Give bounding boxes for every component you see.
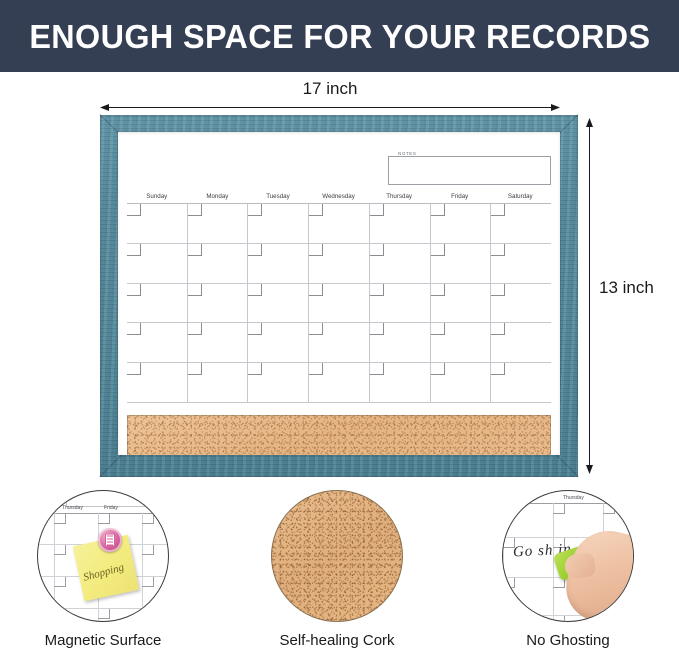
calendar-date-box bbox=[188, 204, 202, 216]
calendar-week-row bbox=[127, 323, 551, 363]
calendar-day-cell[interactable] bbox=[127, 323, 188, 362]
calendar-day-cell[interactable] bbox=[309, 363, 370, 402]
board-surface: NOTES Sunday Monday Tuesday Wednesday Th… bbox=[118, 132, 560, 455]
calendar-day-cell[interactable] bbox=[491, 323, 551, 362]
calendar-date-box bbox=[127, 363, 141, 375]
calendar-day-cell[interactable] bbox=[431, 284, 492, 323]
mini-grid-line bbox=[142, 513, 143, 621]
calendar-date-box bbox=[370, 284, 384, 296]
calendar-day-cell[interactable] bbox=[309, 323, 370, 362]
calendar-day-cell[interactable] bbox=[248, 204, 309, 243]
calendar-date-box bbox=[127, 204, 141, 216]
mini-day-header-saturday: Satu bbox=[148, 505, 158, 511]
mini-day-header-thursday: Thursday bbox=[62, 505, 83, 511]
day-header-saturday: Saturday bbox=[490, 190, 551, 203]
thumb-shape bbox=[563, 552, 596, 580]
calendar-week-row bbox=[127, 204, 551, 244]
page-title: ENOUGH SPACE FOR YOUR RECORDS bbox=[29, 20, 650, 53]
calendar-date-box bbox=[188, 244, 202, 256]
calendar-day-header-row: Sunday Monday Tuesday Wednesday Thursday… bbox=[127, 190, 551, 204]
feature-callout-self-healing-cork: Self-healing Cork bbox=[261, 490, 413, 649]
calendar-day-cell[interactable] bbox=[370, 284, 431, 323]
height-dimension-label: 13 inch bbox=[599, 278, 654, 298]
calendar-day-cell[interactable] bbox=[248, 284, 309, 323]
calendar-date-box bbox=[309, 204, 323, 216]
day-header-thursday: Thursday bbox=[369, 190, 430, 203]
calendar-day-cell[interactable] bbox=[127, 204, 188, 243]
feature-callout-no-ghosting: Thursday Go sh in No Ghosting bbox=[492, 490, 644, 649]
calendar-day-cell[interactable] bbox=[431, 204, 492, 243]
calendar-date-box bbox=[188, 323, 202, 335]
mini-grid-line bbox=[54, 513, 55, 621]
mini-date-box bbox=[98, 609, 110, 619]
mini-day-header-friday: Friday bbox=[104, 505, 118, 511]
magnet-glyph bbox=[105, 534, 115, 547]
day-header-monday: Monday bbox=[188, 190, 249, 203]
calendar-date-box bbox=[491, 363, 505, 375]
calendar-day-cell[interactable] bbox=[370, 204, 431, 243]
calendar-day-cell[interactable] bbox=[127, 244, 188, 283]
calendar-date-box bbox=[309, 284, 323, 296]
calendar-week-row bbox=[127, 363, 551, 403]
day-header-sunday: Sunday bbox=[127, 190, 188, 203]
day-header-friday: Friday bbox=[430, 190, 491, 203]
width-dimension-annotation: 17 inch bbox=[100, 79, 560, 109]
calendar-day-cell[interactable] bbox=[188, 244, 249, 283]
mini-grid-line bbox=[503, 503, 504, 621]
calendar-day-cell[interactable] bbox=[370, 244, 431, 283]
calendar-week-row bbox=[127, 284, 551, 324]
calendar-week-row bbox=[127, 244, 551, 284]
mini-date-box bbox=[142, 545, 154, 555]
calendar-date-box bbox=[248, 323, 262, 335]
notes-box: NOTES bbox=[388, 156, 551, 185]
notes-label: NOTES bbox=[395, 151, 420, 156]
calendar-day-cell[interactable] bbox=[248, 323, 309, 362]
calendar-date-box bbox=[127, 244, 141, 256]
calendar-day-cell[interactable] bbox=[370, 363, 431, 402]
calendar-day-cell[interactable] bbox=[127, 363, 188, 402]
calendar-date-box bbox=[431, 204, 445, 216]
calendar-date-box bbox=[309, 244, 323, 256]
calendar-date-box bbox=[491, 204, 505, 216]
calendar-grid: Sunday Monday Tuesday Wednesday Thursday… bbox=[127, 190, 551, 402]
feature-label-magnetic-surface: Magnetic Surface bbox=[27, 632, 179, 649]
calendar-date-box bbox=[309, 323, 323, 335]
calendar-day-cell[interactable] bbox=[431, 363, 492, 402]
calendar-day-cell[interactable] bbox=[188, 284, 249, 323]
calendar-date-box bbox=[248, 363, 262, 375]
calendar-date-box bbox=[309, 363, 323, 375]
calendar-date-box bbox=[491, 284, 505, 296]
calendar-day-cell[interactable] bbox=[127, 284, 188, 323]
calendar-day-cell[interactable] bbox=[491, 284, 551, 323]
calendar-day-cell[interactable] bbox=[248, 363, 309, 402]
mini-date-box bbox=[54, 514, 66, 524]
no-ghosting-icon: Thursday Go sh in bbox=[502, 490, 634, 622]
mini-date-box bbox=[54, 609, 66, 619]
calendar-date-box bbox=[248, 284, 262, 296]
magnetic-surface-icon: Thursday Friday Satu Shopping bbox=[37, 490, 169, 622]
width-dimension-label: 17 inch bbox=[100, 79, 560, 99]
calendar-date-box bbox=[431, 284, 445, 296]
feature-label-self-healing-cork: Self-healing Cork bbox=[261, 632, 413, 649]
calendar-date-box bbox=[370, 204, 384, 216]
calendar-date-box bbox=[370, 323, 384, 335]
mini-date-box bbox=[54, 545, 66, 555]
calendar-date-box bbox=[248, 244, 262, 256]
mini-date-box bbox=[503, 578, 515, 588]
calendar-day-cell[interactable] bbox=[491, 204, 551, 243]
header-banner: ENOUGH SPACE FOR YOUR RECORDS bbox=[0, 0, 679, 72]
width-arrow-icon bbox=[100, 103, 560, 112]
mini-date-box bbox=[142, 514, 154, 524]
calendar-date-box bbox=[188, 363, 202, 375]
mini-date-box bbox=[553, 616, 565, 622]
calendar-date-box bbox=[248, 204, 262, 216]
calendar-date-box bbox=[127, 323, 141, 335]
calendar-day-cell[interactable] bbox=[491, 363, 551, 402]
mini-date-box bbox=[98, 514, 110, 524]
mini-date-box bbox=[553, 504, 565, 514]
calendar-date-box bbox=[491, 323, 505, 335]
calendar-body bbox=[127, 204, 551, 403]
calendar-day-cell[interactable] bbox=[431, 323, 492, 362]
whiteboard-product: NOTES Sunday Monday Tuesday Wednesday Th… bbox=[100, 115, 578, 477]
calendar-date-box bbox=[491, 244, 505, 256]
height-arrow-icon bbox=[585, 118, 594, 474]
day-header-tuesday: Tuesday bbox=[248, 190, 309, 203]
cork-strip bbox=[127, 415, 551, 455]
calendar-date-box bbox=[188, 284, 202, 296]
calendar-day-cell[interactable] bbox=[248, 244, 309, 283]
height-dimension-annotation: 13 inch bbox=[585, 118, 677, 474]
calendar-date-box bbox=[431, 323, 445, 335]
feature-callout-magnetic-surface: Thursday Friday Satu Shopping bbox=[27, 490, 179, 649]
mini-day-header-thursday: Thursday bbox=[563, 495, 584, 501]
calendar-day-cell[interactable] bbox=[370, 323, 431, 362]
calendar-date-box bbox=[127, 284, 141, 296]
cork-texture-icon bbox=[271, 490, 403, 622]
calendar-date-box bbox=[370, 244, 384, 256]
feature-label-no-ghosting: No Ghosting bbox=[492, 632, 644, 649]
calendar-day-cell[interactable] bbox=[309, 284, 370, 323]
calendar-day-cell[interactable] bbox=[431, 244, 492, 283]
magnet-icon bbox=[98, 528, 122, 552]
mini-date-box bbox=[142, 577, 154, 587]
calendar-day-cell[interactable] bbox=[309, 204, 370, 243]
calendar-day-cell[interactable] bbox=[188, 204, 249, 243]
calendar-day-cell[interactable] bbox=[491, 244, 551, 283]
calendar-date-box bbox=[431, 244, 445, 256]
sticky-note-text: Shopping bbox=[82, 561, 125, 583]
mini-date-box bbox=[54, 577, 66, 587]
calendar-day-cell[interactable] bbox=[188, 363, 249, 402]
calendar-date-box bbox=[431, 363, 445, 375]
day-header-wednesday: Wednesday bbox=[309, 190, 370, 203]
calendar-day-cell[interactable] bbox=[188, 323, 249, 362]
mini-date-box bbox=[603, 504, 615, 514]
calendar-date-box bbox=[370, 363, 384, 375]
calendar-day-cell[interactable] bbox=[309, 244, 370, 283]
